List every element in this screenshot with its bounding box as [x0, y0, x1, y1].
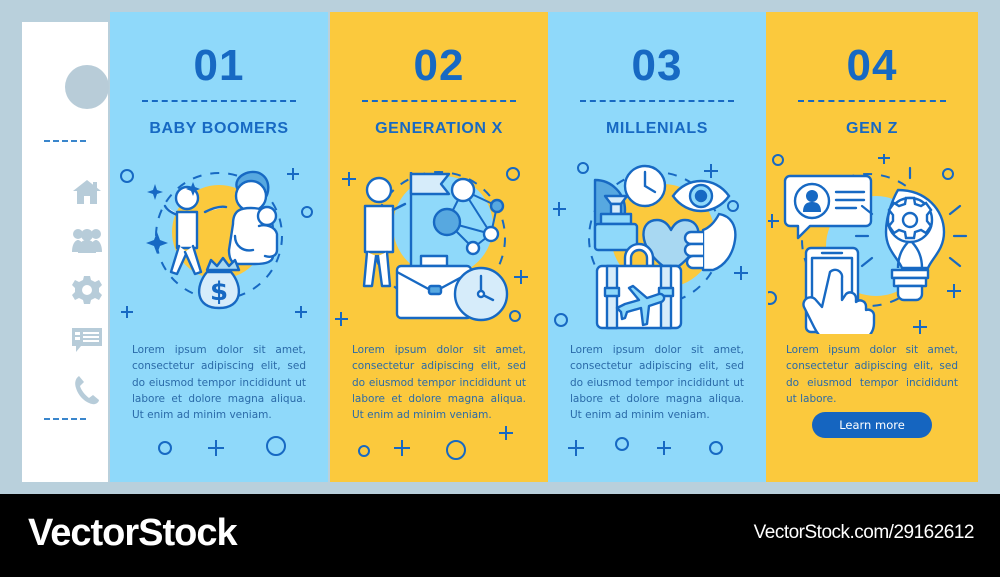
card-title: BABY BOOMERS	[110, 120, 328, 138]
phone-icon	[74, 375, 100, 405]
gear-icon	[72, 275, 102, 305]
home-icon	[72, 178, 102, 206]
travel-lifestyle-illustration	[553, 154, 761, 334]
sidebar-divider-top	[44, 140, 86, 142]
onboarding-card-millenials[interactable]: 03 MILLENIALS	[548, 12, 766, 482]
card-body-text: Lorem ipsum dolor sit amet, consectetur …	[352, 342, 526, 423]
card-title: MILLENIALS	[548, 120, 766, 138]
card-title: GENERATION X	[330, 120, 548, 138]
family-money-illustration: $	[115, 154, 323, 334]
sidebar-item-home[interactable]	[69, 174, 105, 210]
card-divider	[142, 100, 296, 102]
card-divider	[798, 100, 946, 102]
mobile-idea-illustration	[768, 154, 976, 334]
svg-text:$: $	[210, 277, 228, 307]
card-body-text: Lorem ipsum dolor sit amet, consectetur …	[786, 342, 958, 407]
people-icon	[71, 226, 103, 254]
onboarding-card-gen-z[interactable]: 04 GEN Z	[766, 12, 978, 482]
onboarding-card-generation-x[interactable]: 02 GENERATION X	[330, 12, 548, 482]
sidebar-item-settings[interactable]	[69, 272, 105, 308]
sidebar-divider-bottom	[44, 418, 86, 420]
card-body-text: Lorem ipsum dolor sit amet, consectetur …	[132, 342, 306, 423]
onboarding-screens-canvas: 01 BABY BOOMERS	[0, 0, 1000, 577]
card-number: 01	[110, 44, 328, 88]
learn-more-button[interactable]: Learn more	[812, 412, 932, 438]
sidebar	[22, 22, 108, 482]
card-body-text: Lorem ipsum dolor sit amet, consectetur …	[570, 342, 744, 423]
sidebar-item-messages[interactable]	[69, 322, 105, 358]
card-title: GEN Z	[766, 120, 978, 138]
card-decorations	[548, 424, 766, 464]
footer-watermark-bar: VectorStock VectorStock.com/29162612	[0, 494, 1000, 577]
card-divider	[580, 100, 734, 102]
avatar[interactable]	[65, 65, 109, 109]
sidebar-item-people[interactable]	[69, 222, 105, 258]
card-decorations	[330, 424, 548, 464]
vectorstock-logo: VectorStock	[28, 512, 237, 555]
card-number: 03	[548, 44, 766, 88]
card-number: 02	[330, 44, 548, 88]
message-list-icon	[71, 326, 103, 354]
onboarding-card-baby-boomers[interactable]: 01 BABY BOOMERS	[110, 12, 328, 482]
career-network-illustration	[335, 154, 543, 334]
card-decorations	[110, 424, 328, 464]
card-number: 04	[766, 44, 978, 88]
vectorstock-url: VectorStock.com/29162612	[754, 522, 974, 544]
sidebar-item-call[interactable]	[69, 372, 105, 408]
card-divider	[362, 100, 516, 102]
